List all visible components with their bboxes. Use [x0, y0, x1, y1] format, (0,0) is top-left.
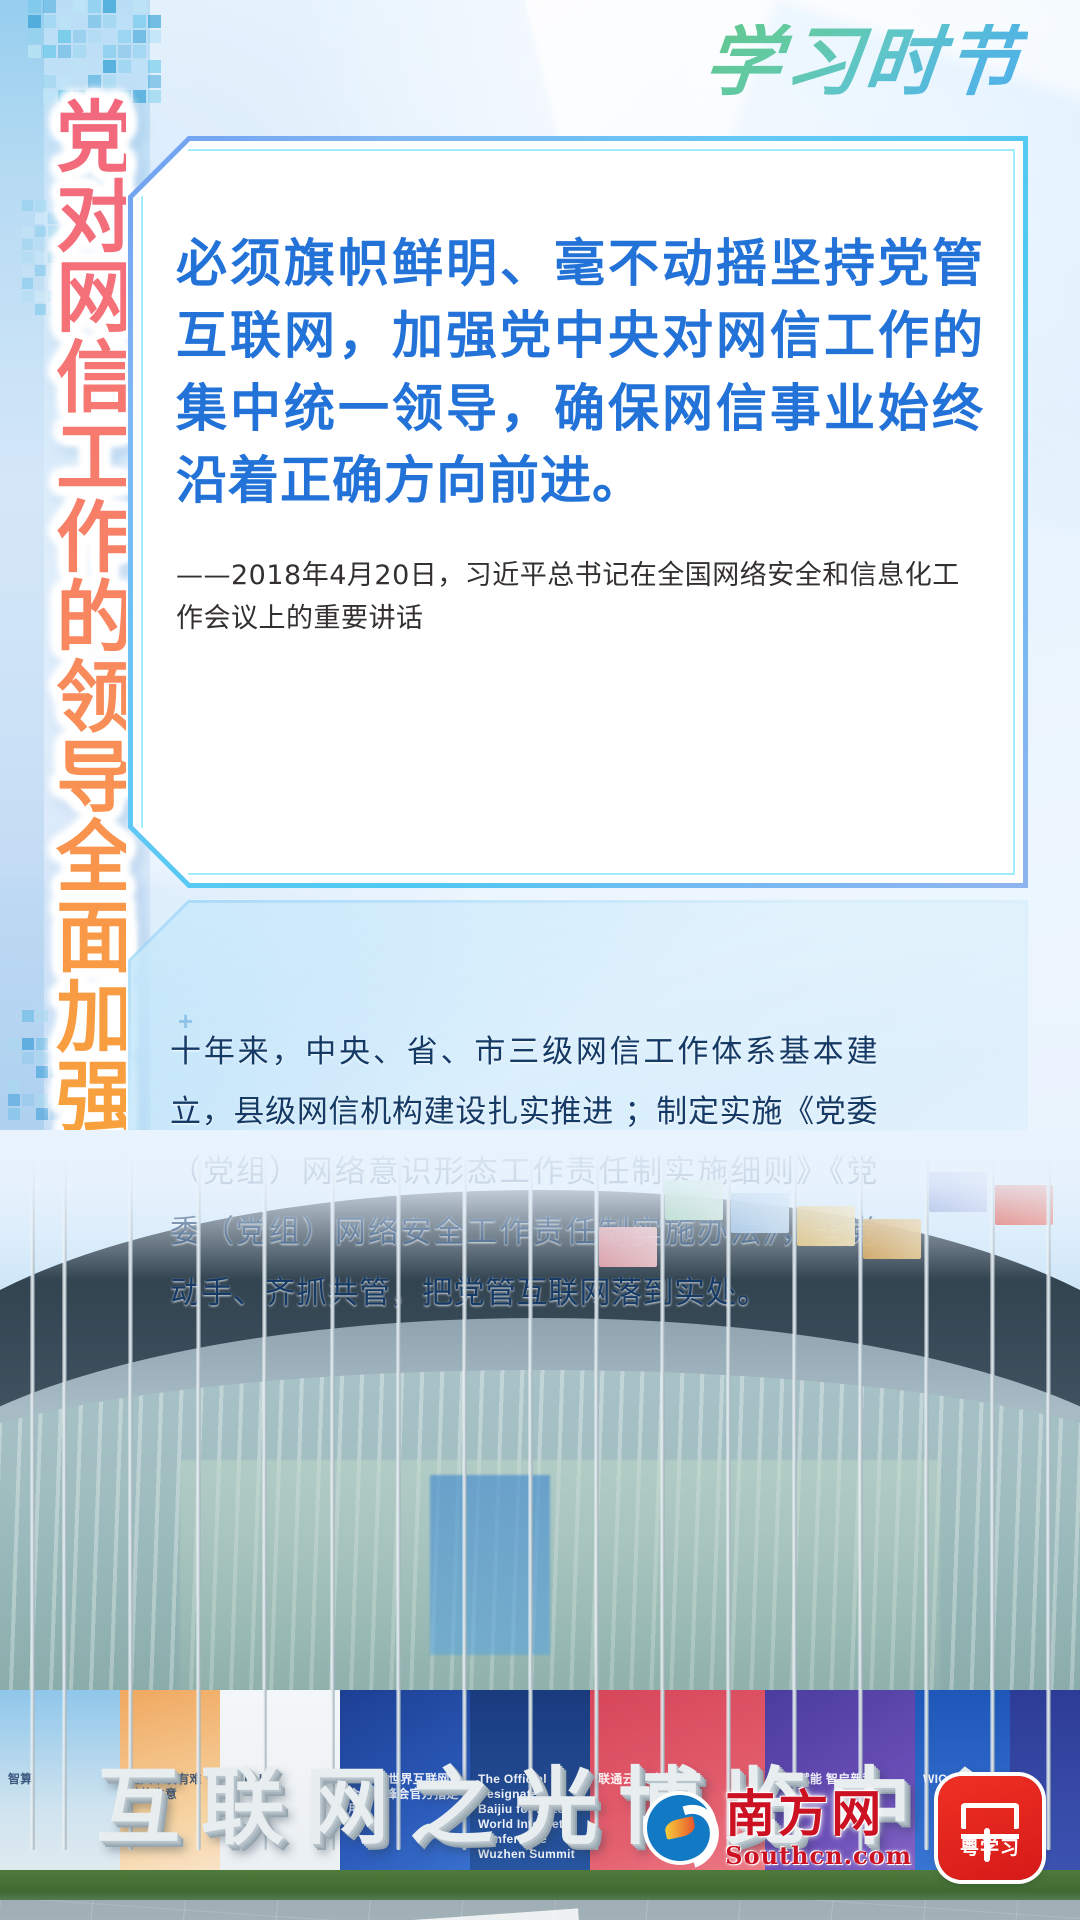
yuexuexi-book-icon	[961, 1803, 1019, 1829]
quote-text: 必须旗帜鲜明、毫不动摇坚持党管互联网，加强党中央对网信工作的集中统一领导，确保网…	[176, 228, 984, 518]
footer-logos: 南方网 Southcn.com 粤学习	[647, 1776, 1042, 1880]
signage-char: 之	[409, 1765, 493, 1849]
quote-card-content: 必须旗帜鲜明、毫不动摇坚持党管互联网，加强党中央对网信工作的集中统一领导，确保网…	[176, 228, 984, 641]
vertical-headline: 党对网信工作的领导全面加强	[22, 96, 126, 1136]
southcn-mark-icon	[647, 1795, 713, 1861]
signage-char: 光	[514, 1765, 598, 1849]
photo-top-fade	[0, 1130, 1080, 1280]
yuexuexi-app-icon[interactable]: 粤学习	[938, 1776, 1042, 1880]
quote-card: 必须旗帜鲜明、毫不动摇坚持党管互联网，加强党中央对网信工作的集中统一领导，确保网…	[128, 136, 1028, 888]
yuexuexi-stem-icon	[984, 1828, 990, 1862]
southcn-name-cn: 南方网	[725, 1789, 912, 1839]
signage-char: 联	[200, 1765, 284, 1849]
brand-title: 学习时节	[701, 24, 1029, 100]
signage-char: 网	[305, 1765, 389, 1849]
southcn-name-en: Southcn.com	[725, 1844, 912, 1868]
mosaic-decoration-top-left	[28, 0, 158, 110]
southcn-wordmark: 南方网 Southcn.com	[725, 1789, 912, 1868]
quote-attribution: ——2018年4月20日，习近平总书记在全国网络安全和信息化工作会议上的重要讲话	[176, 554, 984, 641]
poster-root: 学习时节 党对网信工作的领导全面加强 必须旗帜鲜明、毫不动摇坚持党管互联网，加强…	[0, 0, 1080, 1920]
southcn-logo[interactable]: 南方网 Southcn.com	[647, 1789, 912, 1868]
signage-char: 互	[96, 1765, 180, 1849]
